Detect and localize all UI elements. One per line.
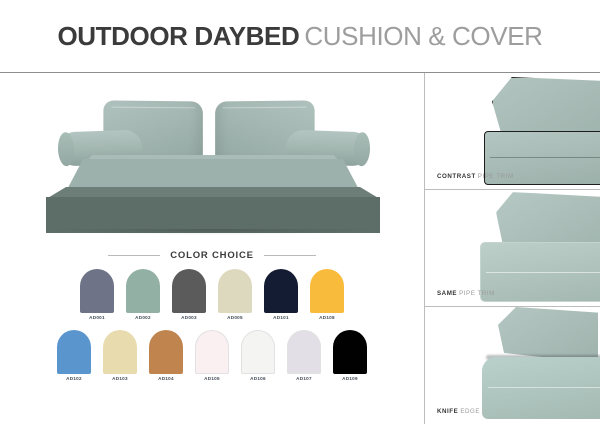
swatch-chip[interactable]: [126, 269, 160, 313]
swatch-code: AD109: [333, 376, 367, 381]
swatch-row-1: AD001 AD002 AD003 AD005 AD101: [0, 269, 424, 320]
color-swatch[interactable]: AD103: [103, 330, 137, 381]
swatch-code: AD105: [195, 376, 229, 381]
swatch-code: AD106: [241, 376, 275, 381]
page-title: OUTDOOR DAYBEDCUSHION & COVER: [57, 23, 542, 49]
knife-edge-illustration: [456, 307, 600, 424]
swatch-chip[interactable]: [57, 330, 91, 374]
daybed-base: [46, 197, 380, 233]
swatch-code: AD102: [57, 376, 91, 381]
swatch-chip[interactable]: [80, 269, 114, 313]
swatch-code: AD003: [172, 315, 206, 320]
swatch-code: AD101: [264, 315, 298, 320]
detail-label-light: EDGE: [460, 408, 480, 415]
hero-image: [0, 73, 424, 238]
page-header: OUTDOOR DAYBEDCUSHION & COVER: [0, 0, 600, 72]
swatch-code: AD108: [310, 315, 344, 320]
daybed-illustration: [18, 79, 408, 235]
page-title-light: CUSHION & COVER: [304, 21, 542, 51]
swatch-code: AD005: [218, 315, 252, 320]
swatch-chip[interactable]: [264, 269, 298, 313]
swatch-row-2: AD102 AD103 AD104 AD105 AD106: [0, 330, 424, 381]
swatch-chip[interactable]: [310, 269, 344, 313]
swatch-chip[interactable]: [103, 330, 137, 374]
detail-panel-label: CONTRASTPIPE TRIM: [437, 173, 514, 180]
color-swatch[interactable]: AD001: [80, 269, 114, 320]
swatch-chip[interactable]: [149, 330, 183, 374]
swatch-code: AD001: [80, 315, 114, 320]
heading-rule-right: [264, 255, 316, 256]
detail-panel-label: KNIFEEDGE: [437, 408, 480, 415]
color-swatch[interactable]: AD109: [333, 330, 367, 381]
pillow-seam: [223, 107, 307, 109]
color-swatch[interactable]: AD003: [172, 269, 206, 320]
color-choice-title: COLOR CHOICE: [170, 250, 254, 261]
detail-label-bold: CONTRAST: [437, 173, 476, 180]
bolster-cap: [57, 132, 74, 167]
detail-panel-contrast-pipe-trim: CONTRASTPIPE TRIM: [425, 73, 600, 190]
swatch-chip[interactable]: [218, 269, 252, 313]
color-swatch-grid: AD001 AD002 AD003 AD005 AD101: [0, 269, 424, 391]
color-swatch[interactable]: AD104: [149, 330, 183, 381]
color-swatch[interactable]: AD108: [310, 269, 344, 320]
cushion-seam: [488, 387, 600, 388]
pillow-seam: [112, 107, 196, 109]
swatch-code: AD104: [149, 376, 183, 381]
swatch-chip[interactable]: [172, 269, 206, 313]
color-swatch[interactable]: AD105: [195, 330, 229, 381]
color-swatch[interactable]: AD102: [57, 330, 91, 381]
color-choice-heading: COLOR CHOICE: [0, 245, 424, 265]
left-column: COLOR CHOICE AD001 AD002 AD003: [0, 73, 424, 424]
swatch-chip[interactable]: [241, 330, 275, 374]
detail-label-bold: SAME: [437, 290, 457, 297]
page-title-bold: OUTDOOR DAYBED: [57, 21, 299, 51]
detail-label-bold: KNIFE: [437, 408, 458, 415]
swatch-chip[interactable]: [333, 330, 367, 374]
swatch-chip[interactable]: [287, 330, 321, 374]
detail-panel-column: CONTRASTPIPE TRIM SAMEPIPE TRIM KNIFEEDG…: [424, 73, 600, 424]
cushion-seam: [490, 157, 600, 158]
color-swatch[interactable]: AD106: [241, 330, 275, 381]
swatch-code: AD002: [126, 315, 160, 320]
swatch-code: AD103: [103, 376, 137, 381]
swatch-code: AD107: [287, 376, 321, 381]
floor-shadow: [42, 229, 384, 235]
color-swatch[interactable]: AD005: [218, 269, 252, 320]
detail-label-light: PIPE TRIM: [478, 173, 514, 180]
detail-label-light: PIPE TRIM: [459, 290, 495, 297]
cushion-seam: [486, 272, 600, 273]
color-swatch[interactable]: AD002: [126, 269, 160, 320]
heading-rule-left: [108, 255, 160, 256]
color-swatch[interactable]: AD101: [264, 269, 298, 320]
infographic-page: OUTDOOR DAYBEDCUSHION & COVER COLOR CH: [0, 0, 600, 424]
swatch-chip[interactable]: [195, 330, 229, 374]
bolster-cap: [353, 132, 370, 167]
detail-panel-label: SAMEPIPE TRIM: [437, 290, 495, 297]
color-swatch[interactable]: AD107: [287, 330, 321, 381]
detail-panel-knife-edge: KNIFEEDGE: [425, 307, 600, 424]
detail-panel-same-pipe-trim: SAMEPIPE TRIM: [425, 190, 600, 307]
